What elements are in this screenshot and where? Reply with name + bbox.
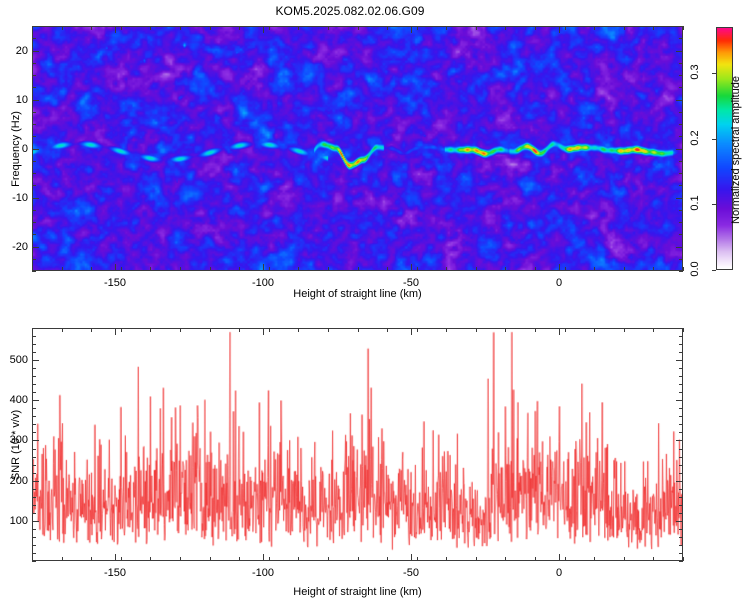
- x-minor-tick: [653, 557, 654, 561]
- y-major-tick-right: [676, 149, 683, 150]
- y-minor-tick: [32, 392, 36, 393]
- spectrogram-y-axis-title: Frequency (Hz): [10, 111, 22, 187]
- x-major-tick: [115, 264, 116, 271]
- y-minor-tick: [32, 352, 36, 353]
- x-major-tick: [411, 264, 412, 271]
- x-minor-tick: [121, 267, 122, 271]
- x-major-tick: [263, 264, 264, 271]
- x-minor-tick: [446, 267, 447, 271]
- x-minor-tick-top: [565, 328, 566, 332]
- y-minor-tick-right: [679, 124, 683, 125]
- y-minor-tick: [32, 87, 36, 88]
- y-major-tick-right: [676, 400, 683, 401]
- x-minor-tick-top: [683, 26, 684, 30]
- y-minor-tick: [32, 136, 36, 137]
- y-minor-tick-right: [679, 513, 683, 514]
- x-minor-tick-top: [328, 328, 329, 332]
- y-minor-tick-right: [679, 87, 683, 88]
- x-minor-tick: [91, 557, 92, 561]
- x-major-tick-top: [411, 26, 412, 33]
- colorbar-tick: [712, 204, 716, 205]
- spectrogram-image: [33, 27, 682, 270]
- y-minor-tick-right: [679, 26, 683, 27]
- colorbar-tick: [712, 270, 716, 271]
- x-minor-tick: [565, 267, 566, 271]
- y-minor-tick-right: [679, 489, 683, 490]
- y-minor-tick-right: [679, 259, 683, 260]
- x-minor-tick: [565, 557, 566, 561]
- y-minor-tick-right: [679, 336, 683, 337]
- x-major-tick: [263, 554, 264, 561]
- y-minor-tick-right: [679, 222, 683, 223]
- y-minor-tick-right: [679, 173, 683, 174]
- spectrogram-x-axis-title: Height of straight line (km): [293, 288, 421, 300]
- x-minor-tick-top: [683, 328, 684, 332]
- x-minor-tick-top: [535, 26, 536, 30]
- y-major-tick: [32, 51, 39, 52]
- y-minor-tick: [32, 336, 36, 337]
- y-minor-tick-right: [679, 368, 683, 369]
- x-tick-label: -100: [252, 567, 274, 579]
- x-minor-tick: [594, 557, 595, 561]
- x-minor-tick-top: [150, 328, 151, 332]
- x-tick-label: 0: [556, 567, 562, 579]
- y-major-tick: [32, 100, 39, 101]
- x-minor-tick-top: [387, 26, 388, 30]
- y-minor-tick-right: [679, 416, 683, 417]
- x-tick-label: -150: [104, 567, 126, 579]
- x-major-tick-top: [115, 26, 116, 33]
- x-minor-tick-top: [653, 328, 654, 332]
- y-minor-tick: [32, 432, 36, 433]
- y-minor-tick: [32, 344, 36, 345]
- y-tick-label: -10: [2, 192, 28, 204]
- y-minor-tick: [32, 173, 36, 174]
- x-minor-tick-top: [298, 26, 299, 30]
- x-major-tick: [115, 554, 116, 561]
- x-minor-tick: [387, 557, 388, 561]
- y-major-tick-right: [676, 100, 683, 101]
- y-minor-tick: [32, 38, 36, 39]
- x-minor-tick: [62, 557, 63, 561]
- x-minor-tick-top: [150, 26, 151, 30]
- y-minor-tick: [32, 75, 36, 76]
- y-minor-tick: [32, 537, 36, 538]
- y-minor-tick: [32, 384, 36, 385]
- snr-trace: [33, 329, 682, 560]
- x-tick-label: -150: [104, 277, 126, 289]
- y-minor-tick-right: [679, 449, 683, 450]
- x-minor-tick-top: [239, 328, 240, 332]
- y-tick-label: 400: [2, 394, 28, 406]
- figure-root: KOM5.2025.082.02.06.G09 -150-100-500-20-…: [0, 0, 750, 600]
- x-minor-tick: [210, 267, 211, 271]
- x-minor-tick: [683, 557, 684, 561]
- y-minor-tick-right: [679, 537, 683, 538]
- x-minor-tick-top: [62, 328, 63, 332]
- x-minor-tick: [624, 267, 625, 271]
- y-major-tick-right: [676, 440, 683, 441]
- y-minor-tick-right: [679, 234, 683, 235]
- x-minor-tick: [150, 267, 151, 271]
- y-minor-tick: [32, 449, 36, 450]
- x-tick-label: 0: [556, 277, 562, 289]
- y-minor-tick-right: [679, 271, 683, 272]
- x-minor-tick: [328, 267, 329, 271]
- y-minor-tick-right: [679, 63, 683, 64]
- x-minor-tick: [298, 557, 299, 561]
- x-minor-tick: [269, 267, 270, 271]
- x-minor-tick-top: [180, 328, 181, 332]
- y-minor-tick-right: [679, 392, 683, 393]
- y-minor-tick-right: [679, 408, 683, 409]
- colorbar-tick: [712, 139, 716, 140]
- y-minor-tick: [32, 185, 36, 186]
- y-minor-tick-right: [679, 136, 683, 137]
- y-minor-tick: [32, 271, 36, 272]
- x-minor-tick: [505, 557, 506, 561]
- x-minor-tick: [476, 557, 477, 561]
- x-minor-tick-top: [387, 328, 388, 332]
- y-minor-tick: [32, 161, 36, 162]
- y-major-tick-right: [676, 247, 683, 248]
- x-minor-tick: [91, 267, 92, 271]
- y-minor-tick-right: [679, 38, 683, 39]
- x-minor-tick: [150, 557, 151, 561]
- x-minor-tick-top: [239, 26, 240, 30]
- x-minor-tick-top: [91, 26, 92, 30]
- x-minor-tick-top: [180, 26, 181, 30]
- y-minor-tick: [32, 112, 36, 113]
- y-minor-tick: [32, 545, 36, 546]
- y-minor-tick: [32, 465, 36, 466]
- x-tick-label: -50: [403, 567, 419, 579]
- x-minor-tick: [505, 267, 506, 271]
- colorbar-tick-label: 0.1: [689, 190, 701, 216]
- x-minor-tick-top: [624, 26, 625, 30]
- y-minor-tick-right: [679, 497, 683, 498]
- x-minor-tick-top: [358, 26, 359, 30]
- x-minor-tick-top: [505, 26, 506, 30]
- colorbar-title: Normalized spectral amplitude: [730, 76, 742, 224]
- y-minor-tick: [32, 553, 36, 554]
- x-minor-tick: [683, 267, 684, 271]
- x-minor-tick: [239, 267, 240, 271]
- y-minor-tick-right: [679, 465, 683, 466]
- x-minor-tick-top: [476, 26, 477, 30]
- y-major-tick: [32, 198, 39, 199]
- y-minor-tick: [32, 457, 36, 458]
- x-minor-tick: [535, 557, 536, 561]
- y-tick-label: 10: [2, 94, 28, 106]
- x-minor-tick: [535, 267, 536, 271]
- colorbar-tick-label: 0.0: [689, 256, 701, 282]
- x-major-tick: [559, 264, 560, 271]
- x-minor-tick: [328, 557, 329, 561]
- x-minor-tick-top: [62, 26, 63, 30]
- x-minor-tick: [62, 267, 63, 271]
- y-minor-tick: [32, 416, 36, 417]
- x-minor-tick-top: [269, 26, 270, 30]
- x-minor-tick: [269, 557, 270, 561]
- y-minor-tick: [32, 513, 36, 514]
- snr-x-axis-title: Height of straight line (km): [293, 586, 421, 598]
- y-tick-label: 20: [2, 45, 28, 57]
- y-major-tick-right: [676, 481, 683, 482]
- y-minor-tick: [32, 424, 36, 425]
- x-minor-tick: [358, 557, 359, 561]
- x-minor-tick-top: [358, 328, 359, 332]
- x-minor-tick: [358, 267, 359, 271]
- y-tick-label: 500: [2, 354, 28, 366]
- x-minor-tick-top: [594, 26, 595, 30]
- colorbar-tick-label: 0.3: [689, 59, 701, 85]
- x-minor-tick: [180, 267, 181, 271]
- y-minor-tick-right: [679, 553, 683, 554]
- x-minor-tick-top: [446, 328, 447, 332]
- x-minor-tick: [298, 267, 299, 271]
- y-minor-tick-right: [679, 545, 683, 546]
- y-minor-tick: [32, 259, 36, 260]
- page-title: KOM5.2025.082.02.06.G09: [0, 4, 700, 18]
- x-minor-tick-top: [417, 26, 418, 30]
- spectrogram-panel: [32, 26, 683, 271]
- y-major-tick: [32, 149, 39, 150]
- y-minor-tick: [32, 408, 36, 409]
- x-minor-tick: [417, 557, 418, 561]
- x-major-tick-top: [115, 328, 116, 335]
- x-minor-tick: [624, 557, 625, 561]
- y-tick-label: 100: [2, 515, 28, 527]
- x-minor-tick: [180, 557, 181, 561]
- y-minor-tick: [32, 222, 36, 223]
- y-major-tick: [32, 481, 39, 482]
- x-minor-tick-top: [505, 328, 506, 332]
- y-minor-tick: [32, 376, 36, 377]
- y-minor-tick-right: [679, 432, 683, 433]
- y-minor-tick: [32, 561, 36, 562]
- y-major-tick: [32, 521, 39, 522]
- y-minor-tick-right: [679, 457, 683, 458]
- y-major-tick-right: [676, 360, 683, 361]
- x-minor-tick: [594, 267, 595, 271]
- x-minor-tick: [239, 557, 240, 561]
- y-minor-tick-right: [679, 376, 683, 377]
- x-minor-tick-top: [210, 328, 211, 332]
- y-minor-tick: [32, 505, 36, 506]
- x-minor-tick-top: [535, 328, 536, 332]
- y-major-tick: [32, 400, 39, 401]
- x-minor-tick-top: [446, 26, 447, 30]
- x-minor-tick: [121, 557, 122, 561]
- x-minor-tick-top: [328, 26, 329, 30]
- colorbar-tick: [712, 73, 716, 74]
- x-major-tick: [411, 554, 412, 561]
- y-minor-tick-right: [679, 112, 683, 113]
- y-minor-tick: [32, 328, 36, 329]
- y-minor-tick-right: [679, 424, 683, 425]
- x-major-tick-top: [411, 328, 412, 335]
- x-minor-tick: [210, 557, 211, 561]
- y-minor-tick-right: [679, 161, 683, 162]
- y-major-tick-right: [676, 198, 683, 199]
- x-minor-tick: [417, 267, 418, 271]
- y-minor-tick: [32, 124, 36, 125]
- y-minor-tick-right: [679, 352, 683, 353]
- x-minor-tick-top: [210, 26, 211, 30]
- y-minor-tick: [32, 234, 36, 235]
- x-major-tick: [559, 554, 560, 561]
- x-minor-tick: [387, 267, 388, 271]
- x-minor-tick-top: [91, 328, 92, 332]
- y-minor-tick-right: [679, 344, 683, 345]
- y-minor-tick-right: [679, 75, 683, 76]
- snr-y-axis-title: SNR (10 * v/v): [10, 409, 22, 479]
- y-minor-tick: [32, 63, 36, 64]
- x-minor-tick-top: [121, 26, 122, 30]
- x-minor-tick-top: [653, 26, 654, 30]
- y-major-tick: [32, 360, 39, 361]
- x-minor-tick: [446, 557, 447, 561]
- y-minor-tick: [32, 489, 36, 490]
- y-minor-tick: [32, 26, 36, 27]
- y-minor-tick: [32, 210, 36, 211]
- x-minor-tick-top: [121, 328, 122, 332]
- y-minor-tick: [32, 368, 36, 369]
- x-minor-tick-top: [594, 328, 595, 332]
- y-minor-tick-right: [679, 185, 683, 186]
- x-major-tick-top: [559, 26, 560, 33]
- x-tick-label: -100: [252, 277, 274, 289]
- x-major-tick-top: [263, 26, 264, 33]
- y-minor-tick-right: [679, 210, 683, 211]
- y-major-tick-right: [676, 51, 683, 52]
- y-minor-tick-right: [679, 561, 683, 562]
- y-minor-tick: [32, 497, 36, 498]
- y-major-tick: [32, 440, 39, 441]
- y-minor-tick: [32, 529, 36, 530]
- y-major-tick-right: [676, 521, 683, 522]
- x-minor-tick-top: [565, 26, 566, 30]
- x-minor-tick-top: [298, 328, 299, 332]
- y-minor-tick: [32, 473, 36, 474]
- y-minor-tick-right: [679, 384, 683, 385]
- x-minor-tick: [653, 267, 654, 271]
- x-minor-tick-top: [269, 328, 270, 332]
- y-major-tick: [32, 247, 39, 248]
- y-tick-label: -20: [2, 241, 28, 253]
- snr-panel: [32, 328, 683, 561]
- x-major-tick-top: [559, 328, 560, 335]
- y-minor-tick-right: [679, 529, 683, 530]
- y-minor-tick-right: [679, 505, 683, 506]
- y-minor-tick-right: [679, 328, 683, 329]
- x-minor-tick: [476, 267, 477, 271]
- y-minor-tick-right: [679, 473, 683, 474]
- x-major-tick-top: [263, 328, 264, 335]
- x-minor-tick-top: [417, 328, 418, 332]
- x-minor-tick-top: [476, 328, 477, 332]
- colorbar-tick-label: 0.2: [689, 125, 701, 151]
- x-minor-tick-top: [624, 328, 625, 332]
